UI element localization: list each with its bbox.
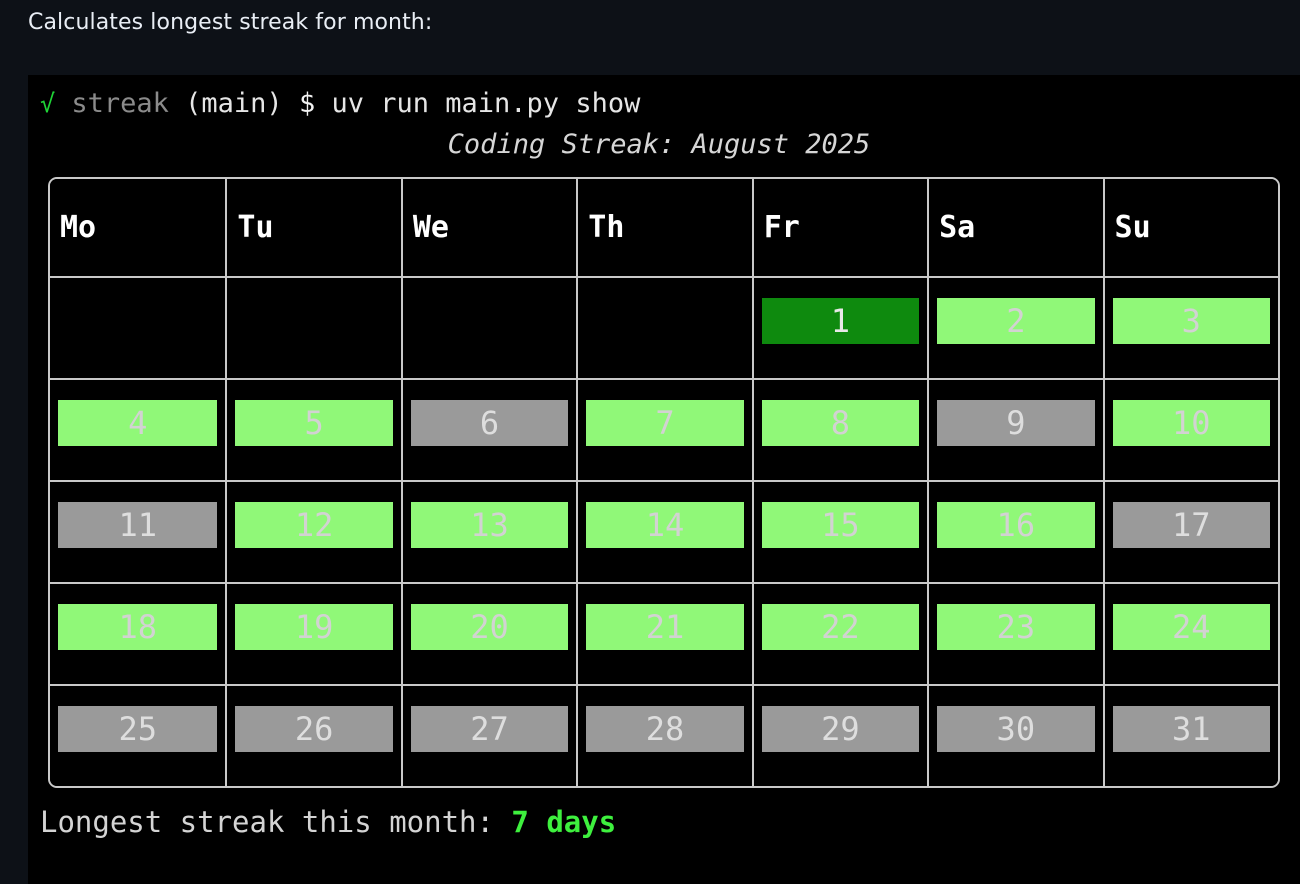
day-header-cell: Mo <box>50 179 225 276</box>
day-cell-inner: 21 <box>578 584 751 684</box>
calendar-day-cell: 1 <box>752 276 927 378</box>
day-cell-inner: 29 <box>754 686 927 786</box>
calendar-header-row: Mo Tu We Th Fr Sa Su <box>50 179 1278 276</box>
day-cell-inner: 9 <box>929 380 1102 480</box>
day-chip-blank <box>411 298 568 344</box>
day-cell-inner <box>578 278 751 378</box>
day-cell-inner: 22 <box>754 584 927 684</box>
calendar-day-cell: 24 <box>1103 582 1278 684</box>
day-chip-blank <box>58 298 217 344</box>
day-cell-inner: 28 <box>578 686 751 786</box>
calendar-day-cell: 4 <box>50 378 225 480</box>
day-header-cell: Fr <box>752 179 927 276</box>
day-chip-blank <box>586 298 743 344</box>
calendar-day-cell: 29 <box>752 684 927 786</box>
day-cell-inner: 30 <box>929 686 1102 786</box>
calendar-day-cell: 8 <box>752 378 927 480</box>
day-chip-gray: 31 <box>1113 706 1270 752</box>
calendar-day-cell: 5 <box>225 378 400 480</box>
prompt-command: uv run main.py show <box>331 88 640 119</box>
calendar-day-cell <box>50 276 225 378</box>
day-cell-inner: 25 <box>50 686 225 786</box>
day-header-label: Tu <box>227 213 400 243</box>
calendar-day-cell: 21 <box>576 582 751 684</box>
day-cell-inner: 5 <box>227 380 400 480</box>
calendar-day-cell <box>576 276 751 378</box>
day-cell-inner: 10 <box>1105 380 1278 480</box>
day-header-label: We <box>403 213 576 243</box>
day-header-cell: Su <box>1103 179 1278 276</box>
day-cell-inner: 20 <box>403 584 576 684</box>
day-chip-gray: 29 <box>762 706 919 752</box>
day-chip-gray: 9 <box>937 400 1094 446</box>
checkmark-icon: √ <box>40 89 55 118</box>
day-chip-green: 22 <box>762 604 919 650</box>
calendar-day-cell: 20 <box>401 582 576 684</box>
day-cell-inner: 16 <box>929 482 1102 582</box>
day-header-label: Fr <box>754 213 927 243</box>
longest-streak-label: Longest streak this month: <box>40 805 511 839</box>
day-cell-inner: 11 <box>50 482 225 582</box>
calendar-day-cell: 18 <box>50 582 225 684</box>
day-cell-inner: 7 <box>578 380 751 480</box>
day-chip-green: 23 <box>937 604 1094 650</box>
calendar-day-cell: 7 <box>576 378 751 480</box>
calendar-day-cell: 16 <box>927 480 1102 582</box>
section-caption: Calculates longest streak for month: <box>0 0 1300 35</box>
day-chip-gray: 17 <box>1113 502 1270 548</box>
calendar-week-row: 25262728293031 <box>50 684 1278 786</box>
day-cell-inner: 18 <box>50 584 225 684</box>
calendar-day-cell: 26 <box>225 684 400 786</box>
day-chip-green: 21 <box>586 604 743 650</box>
day-header-cell: Tu <box>225 179 400 276</box>
calendar-day-cell: 6 <box>401 378 576 480</box>
day-chip-blank <box>235 298 392 344</box>
day-header-cell: We <box>401 179 576 276</box>
day-cell-inner: 23 <box>929 584 1102 684</box>
calendar-day-cell: 10 <box>1103 378 1278 480</box>
day-chip-green: 24 <box>1113 604 1270 650</box>
day-chip-gray: 11 <box>58 502 217 548</box>
calendar-day-cell <box>401 276 576 378</box>
day-header-label: Th <box>578 213 751 243</box>
day-header-cell: Sa <box>927 179 1102 276</box>
day-cell-inner: 1 <box>754 278 927 378</box>
day-chip-green: 4 <box>58 400 217 446</box>
calendar-container: Mo Tu We Th Fr Sa Su 1234567891011121314… <box>28 167 1300 788</box>
day-cell-inner <box>50 278 225 378</box>
day-header-label: Su <box>1105 213 1278 243</box>
calendar-day-cell: 22 <box>752 582 927 684</box>
day-chip-green: 16 <box>937 502 1094 548</box>
streak-calendar-table: Mo Tu We Th Fr Sa Su 1234567891011121314… <box>48 177 1280 788</box>
day-cell-inner: 27 <box>403 686 576 786</box>
day-chip-green: 13 <box>411 502 568 548</box>
calendar-day-cell: 15 <box>752 480 927 582</box>
calendar-week-row: 11121314151617 <box>50 480 1278 582</box>
day-cell-inner: 2 <box>929 278 1102 378</box>
calendar-day-cell: 27 <box>401 684 576 786</box>
calendar-day-cell: 30 <box>927 684 1102 786</box>
day-cell-inner: 17 <box>1105 482 1278 582</box>
day-chip-green: 5 <box>235 400 392 446</box>
calendar-body: 1234567891011121314151617181920212223242… <box>50 276 1278 786</box>
calendar-day-cell <box>225 276 400 378</box>
day-cell-inner: 12 <box>227 482 400 582</box>
prompt-sigil: $ <box>299 88 315 119</box>
day-chip-gray: 27 <box>411 706 568 752</box>
day-cell-inner: 3 <box>1105 278 1278 378</box>
day-cell-inner: 6 <box>403 380 576 480</box>
day-chip-green: 18 <box>58 604 217 650</box>
day-cell-inner: 8 <box>754 380 927 480</box>
day-header-label: Sa <box>929 213 1102 243</box>
calendar-day-cell: 2 <box>927 276 1102 378</box>
calendar-day-cell: 19 <box>225 582 400 684</box>
day-cell-inner: 19 <box>227 584 400 684</box>
day-chip-green: 10 <box>1113 400 1270 446</box>
calendar-week-row: 45678910 <box>50 378 1278 480</box>
calendar-day-cell: 31 <box>1103 684 1278 786</box>
day-chip-darkgreen: 1 <box>762 298 919 344</box>
day-chip-green: 3 <box>1113 298 1270 344</box>
calendar-day-cell: 13 <box>401 480 576 582</box>
day-cell-inner <box>403 278 576 378</box>
terminal-output-block: √ streak (main) $ uv run main.py show Co… <box>28 75 1300 884</box>
day-chip-green: 8 <box>762 400 919 446</box>
prompt-directory: streak <box>71 88 169 119</box>
day-cell-inner: 13 <box>403 482 576 582</box>
calendar-day-cell: 9 <box>927 378 1102 480</box>
shell-prompt-line: √ streak (main) $ uv run main.py show <box>28 85 1300 123</box>
day-cell-inner <box>227 278 400 378</box>
prompt-git-branch: (main) <box>185 88 283 119</box>
day-cell-inner: 15 <box>754 482 927 582</box>
calendar-title: Coding Streak: August 2025 <box>28 123 1300 167</box>
day-cell-inner: 26 <box>227 686 400 786</box>
day-chip-green: 7 <box>586 400 743 446</box>
day-chip-green: 19 <box>235 604 392 650</box>
calendar-day-cell: 3 <box>1103 276 1278 378</box>
calendar-day-cell: 12 <box>225 480 400 582</box>
calendar-day-cell: 14 <box>576 480 751 582</box>
calendar-day-cell: 11 <box>50 480 225 582</box>
day-chip-gray: 6 <box>411 400 568 446</box>
day-chip-green: 20 <box>411 604 568 650</box>
day-cell-inner: 31 <box>1105 686 1278 786</box>
day-header-label: Mo <box>50 213 225 243</box>
day-chip-gray: 25 <box>58 706 217 752</box>
calendar-day-cell: 17 <box>1103 480 1278 582</box>
day-chip-gray: 30 <box>937 706 1094 752</box>
calendar-day-cell: 25 <box>50 684 225 786</box>
day-cell-inner: 14 <box>578 482 751 582</box>
calendar-week-row: 18192021222324 <box>50 582 1278 684</box>
day-chip-gray: 26 <box>235 706 392 752</box>
longest-streak-value: 7 days <box>511 805 616 839</box>
longest-streak-status: Longest streak this month: 7 days <box>28 788 1300 842</box>
day-chip-green: 14 <box>586 502 743 548</box>
day-chip-green: 2 <box>937 298 1094 344</box>
day-cell-inner: 24 <box>1105 584 1278 684</box>
calendar-day-cell: 28 <box>576 684 751 786</box>
day-chip-gray: 28 <box>586 706 743 752</box>
day-chip-green: 12 <box>235 502 392 548</box>
day-cell-inner: 4 <box>50 380 225 480</box>
day-chip-green: 15 <box>762 502 919 548</box>
calendar-week-row: 123 <box>50 276 1278 378</box>
calendar-day-cell: 23 <box>927 582 1102 684</box>
day-header-cell: Th <box>576 179 751 276</box>
